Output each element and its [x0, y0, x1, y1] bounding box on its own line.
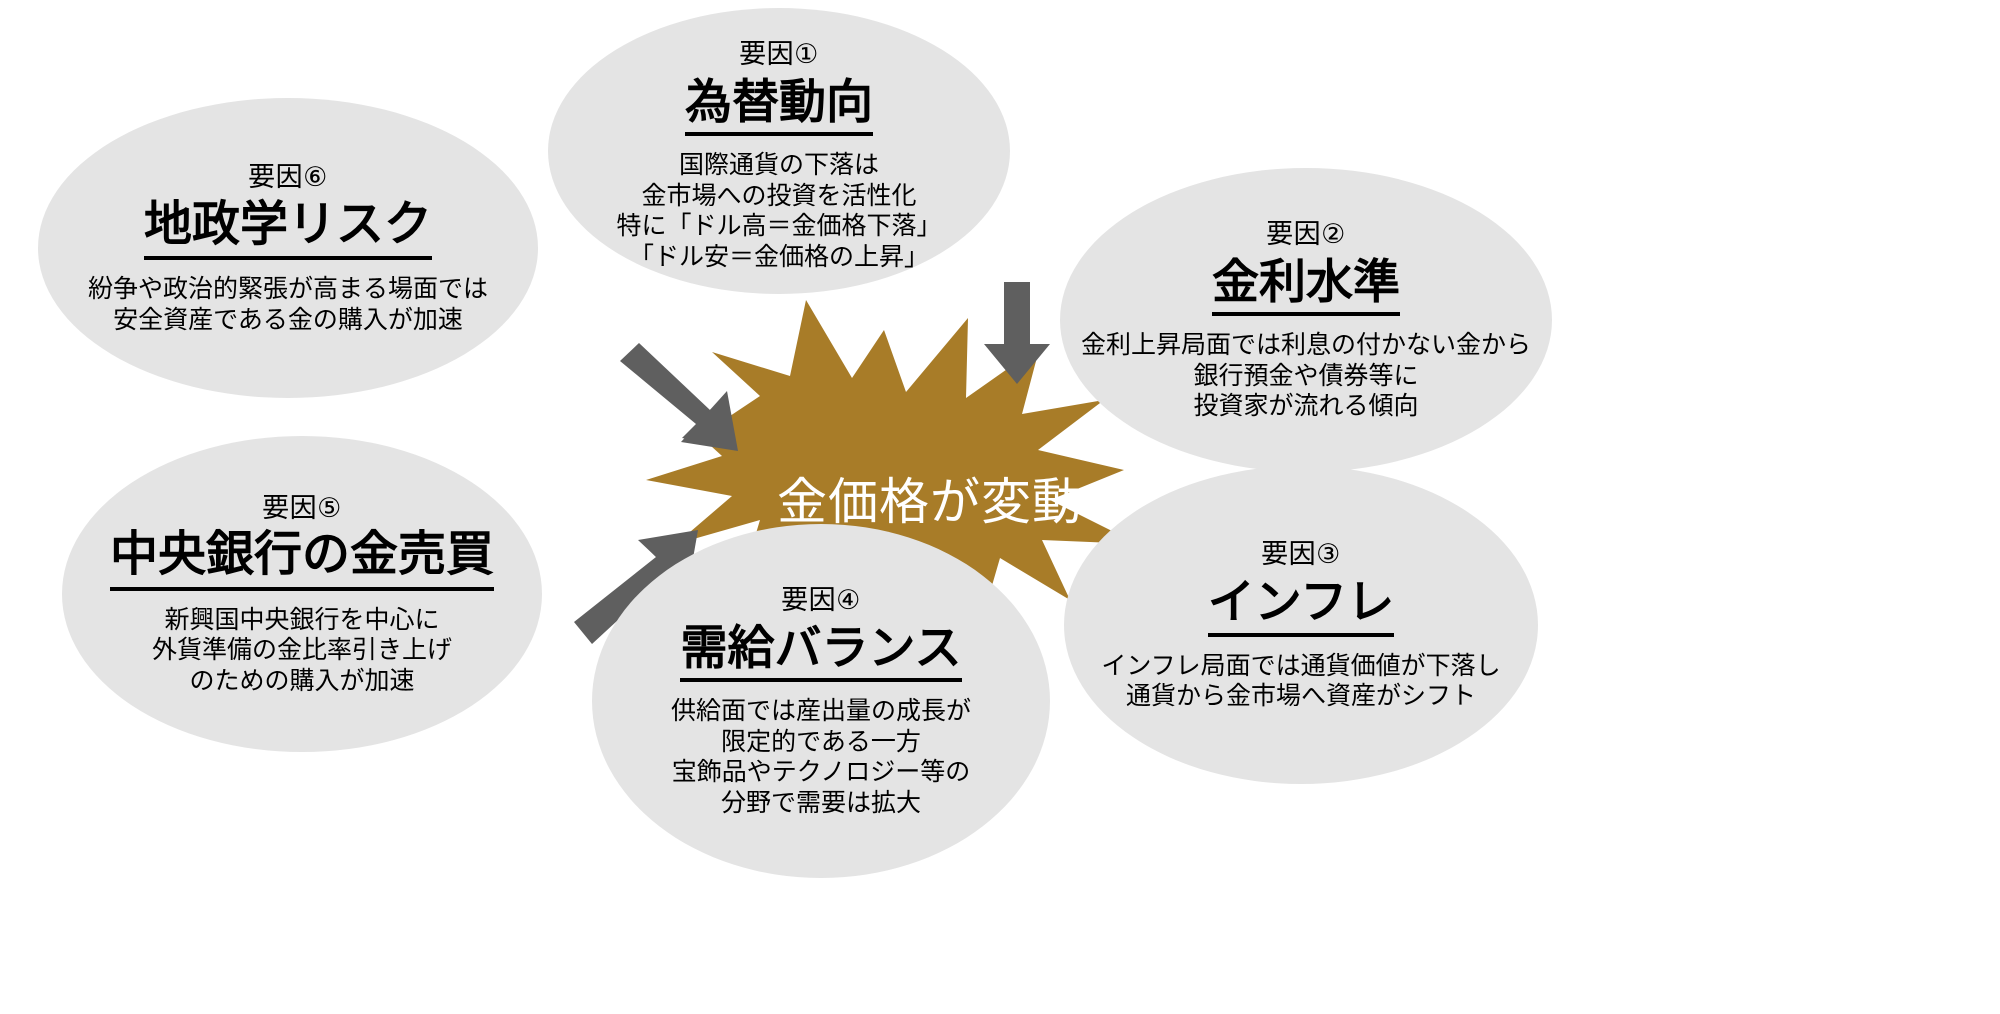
factor-1-title: 為替動向	[685, 73, 873, 136]
factor-2-body: 金利上昇局面では利息の付かない金から 銀行預金や債券等に 投資家が流れる傾向	[1081, 330, 1531, 422]
factor-6-body: 紛争や政治的緊張が高まる場面では 安全資産である金の購入が加速	[88, 274, 488, 335]
arrow-from-factor-1	[984, 282, 1050, 384]
factor-node-4[interactable]: 要因④ 需給バランス 供給面では産出量の成長が 限定的である一方 宝飾品やテクノ…	[592, 524, 1050, 878]
factor-2-body-line: 銀行預金や債券等に	[1081, 361, 1531, 392]
factor-4-body: 供給面では産出量の成長が 限定的である一方 宝飾品やテクノロジー等の 分野で需要…	[671, 696, 971, 818]
factor-3-title: インフレ	[1208, 573, 1395, 636]
factor-5-title: 中央銀行の金売買	[110, 526, 494, 591]
factor-3-kicker: 要因③	[1261, 538, 1341, 571]
factor-2-body-line: 金利上昇局面では利息の付かない金から	[1081, 330, 1531, 361]
factor-4-kicker: 要因④	[781, 584, 861, 617]
diagram-canvas: 金価格が変動 要因① 為替動向 国際通貨の下落は 金市場への投資を活性化 特に「…	[0, 0, 2000, 1014]
factor-5-body: 新興国中央銀行を中心に 外貨準備の金比率引き上げ のための購入が加速	[152, 605, 452, 697]
factor-1-body: 国際通貨の下落は 金市場への投資を活性化 特に「ドル高＝金価格下落」 「ドル安＝…	[616, 150, 941, 272]
factor-5-body-line: 新興国中央銀行を中心に	[152, 605, 452, 636]
factor-3-body: インフレ局面では通貨価値が下落し 通貨から金市場へ資産がシフト	[1101, 651, 1500, 712]
factor-6-body-line: 紛争や政治的緊張が高まる場面では	[88, 274, 488, 305]
factor-2-kicker: 要因②	[1266, 218, 1346, 251]
factor-2-title: 金利水準	[1212, 253, 1400, 316]
factor-4-body-line: 宝飾品やテクノロジー等の	[671, 757, 971, 788]
factor-6-kicker: 要因⑥	[248, 161, 328, 194]
factor-5-kicker: 要因⑤	[262, 492, 342, 525]
factor-3-body-line: インフレ局面では通貨価値が下落し	[1101, 651, 1500, 682]
factor-1-kicker: 要因①	[739, 38, 819, 71]
factor-node-1[interactable]: 要因① 為替動向 国際通貨の下落は 金市場への投資を活性化 特に「ドル高＝金価格…	[548, 8, 1010, 294]
factor-node-6[interactable]: 要因⑥ 地政学リスク 紛争や政治的緊張が高まる場面では 安全資産である金の購入が…	[38, 98, 538, 398]
factor-4-title: 需給バランス	[680, 619, 961, 682]
factor-5-body-line: のための購入が加速	[152, 666, 452, 697]
factor-1-body-line: 「ドル安＝金価格の上昇」	[616, 242, 941, 273]
factor-6-body-line: 安全資産である金の購入が加速	[88, 305, 488, 336]
factor-node-5[interactable]: 要因⑤ 中央銀行の金売買 新興国中央銀行を中心に 外貨準備の金比率引き上げ のた…	[62, 436, 542, 752]
factor-3-body-line: 通貨から金市場へ資産がシフト	[1101, 681, 1500, 712]
factor-1-body-line: 特に「ドル高＝金価格下落」	[616, 211, 941, 242]
factor-1-body-line: 金市場への投資を活性化	[616, 181, 941, 212]
factor-4-body-line: 限定的である一方	[671, 727, 971, 758]
factor-4-body-line: 供給面では産出量の成長が	[671, 696, 971, 727]
factor-5-body-line: 外貨準備の金比率引き上げ	[152, 635, 452, 666]
factor-1-body-line: 国際通貨の下落は	[616, 150, 941, 181]
factor-node-2[interactable]: 要因② 金利水準 金利上昇局面では利息の付かない金から 銀行預金や債券等に 投資…	[1060, 168, 1552, 472]
factor-node-3[interactable]: 要因③ インフレ インフレ局面では通貨価値が下落し 通貨から金市場へ資産がシフト	[1064, 466, 1538, 784]
factor-2-body-line: 投資家が流れる傾向	[1081, 391, 1531, 422]
factor-6-title: 地政学リスク	[144, 196, 432, 261]
factor-4-body-line: 分野で需要は拡大	[671, 788, 971, 819]
